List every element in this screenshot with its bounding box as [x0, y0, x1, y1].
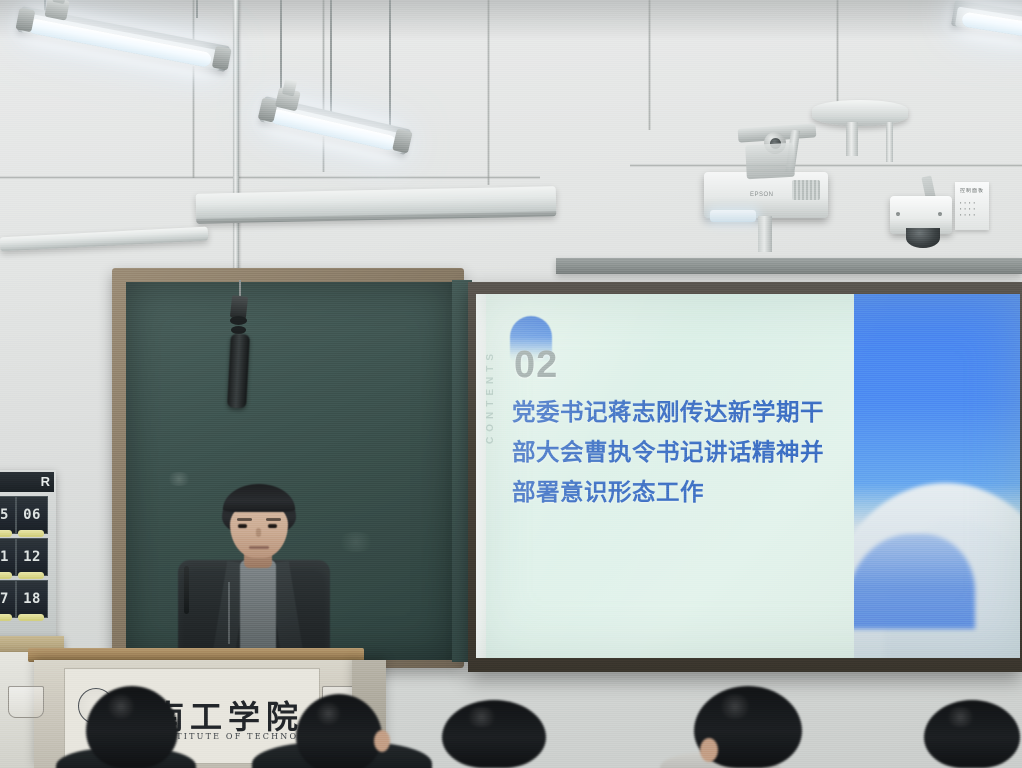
cabinet-hook — [18, 572, 44, 579]
panel-indicator-rows: ▪ ▪ ▪ ▪▪ ▪ ▪ ▪▪ ▪ ▪ ▪ — [960, 200, 984, 218]
shotgun-microphone-icon — [227, 334, 250, 409]
slide-text-area: CONTENTS 02 党委书记蒋志刚传达新学期干部大会曹执令书记讲话精神并部署… — [476, 294, 854, 658]
lamp-wire — [196, 0, 198, 18]
lamp-wire — [389, 0, 391, 140]
classroom-photo: EPSON 控制面板 ▪ ▪ ▪ ▪▪ ▪ ▪ ▪▪ ▪ ▪ ▪ R 05 06 — [0, 0, 1022, 768]
presenter-shirt — [240, 560, 276, 650]
cabinet-cell[interactable]: 12 — [16, 538, 48, 576]
wall-seam — [0, 176, 540, 179]
audience-head-5 — [924, 700, 1020, 768]
lamp-wire — [280, 0, 282, 100]
wall-seam — [648, 0, 651, 130]
wall-seam — [322, 0, 325, 172]
audience-ear — [374, 730, 390, 752]
audience-head-3 — [442, 700, 546, 768]
presenter-eye — [238, 524, 247, 528]
audience-ear — [700, 738, 718, 762]
slide-photo — [854, 294, 1020, 658]
presenter-mouth — [249, 546, 269, 549]
presentation-slide: CONTENTS 02 党委书记蒋志刚传达新学期干部大会曹执令书记讲话精神并部署… — [476, 294, 1020, 658]
microphone-shockmount — [231, 326, 246, 334]
cabinet-hook — [0, 530, 12, 537]
cabinet-hook — [0, 614, 12, 621]
presenter-brow — [237, 518, 252, 521]
cabinet-cell[interactable]: 11 — [0, 538, 16, 576]
wall-seam — [630, 164, 1022, 167]
wall-seam — [487, 0, 490, 185]
presenter-zipper — [228, 582, 230, 644]
presenter-nose — [256, 528, 261, 537]
wall-control-panel[interactable]: 控制面板 ▪ ▪ ▪ ▪▪ ▪ ▪ ▪▪ ▪ ▪ ▪ — [955, 182, 989, 230]
support-pole — [233, 0, 239, 296]
slide-body-text: 党委书记蒋志刚传达新学期干部大会曹执令书记讲话精神并部署意识形态工作 — [512, 392, 838, 512]
slide-side-label: CONTENTS — [485, 324, 496, 444]
cabinet-header-label: R — [41, 474, 50, 489]
wall-ledge — [556, 258, 1022, 274]
presenter-eye — [268, 524, 277, 528]
podium-decor-cup — [8, 686, 44, 718]
cabinet-header: R — [0, 472, 54, 492]
ceiling-speaker-icon — [812, 100, 908, 126]
speaker-stem — [886, 122, 893, 162]
camera-dome-lens — [906, 228, 940, 248]
cabinet-cell[interactable]: 18 — [16, 580, 48, 618]
audience-head-1 — [86, 686, 178, 768]
presenter-brow — [266, 518, 281, 521]
cabinet-hook — [0, 572, 12, 579]
speaker-stem — [846, 122, 858, 156]
projector-brand-label: EPSON — [750, 192, 774, 198]
wall-seam — [192, 0, 195, 178]
key-cabinet[interactable]: R 05 06 11 12 17 18 — [0, 470, 56, 642]
microphone-shockmount — [230, 316, 247, 325]
cabinet-cell[interactable]: 05 — [0, 496, 16, 534]
panel-marks: 控制面板 — [960, 188, 984, 195]
podium-microphone — [184, 566, 189, 614]
projection-screen-frame: CONTENTS 02 党委书记蒋志刚传达新学期干部大会曹执令书记讲话精神并部署… — [468, 282, 1022, 672]
lamp-wire — [330, 0, 332, 118]
cabinet-cell[interactable]: 06 — [16, 496, 48, 534]
slide-section-number: 02 — [514, 344, 558, 387]
cabinet-cell[interactable]: 17 — [0, 580, 16, 618]
cabinet-hook — [18, 614, 44, 621]
cabinet-hook — [18, 530, 44, 537]
projection-screen: CONTENTS 02 党委书记蒋志刚传达新学期干部大会曹执令书记讲话精神并部署… — [476, 294, 1020, 658]
